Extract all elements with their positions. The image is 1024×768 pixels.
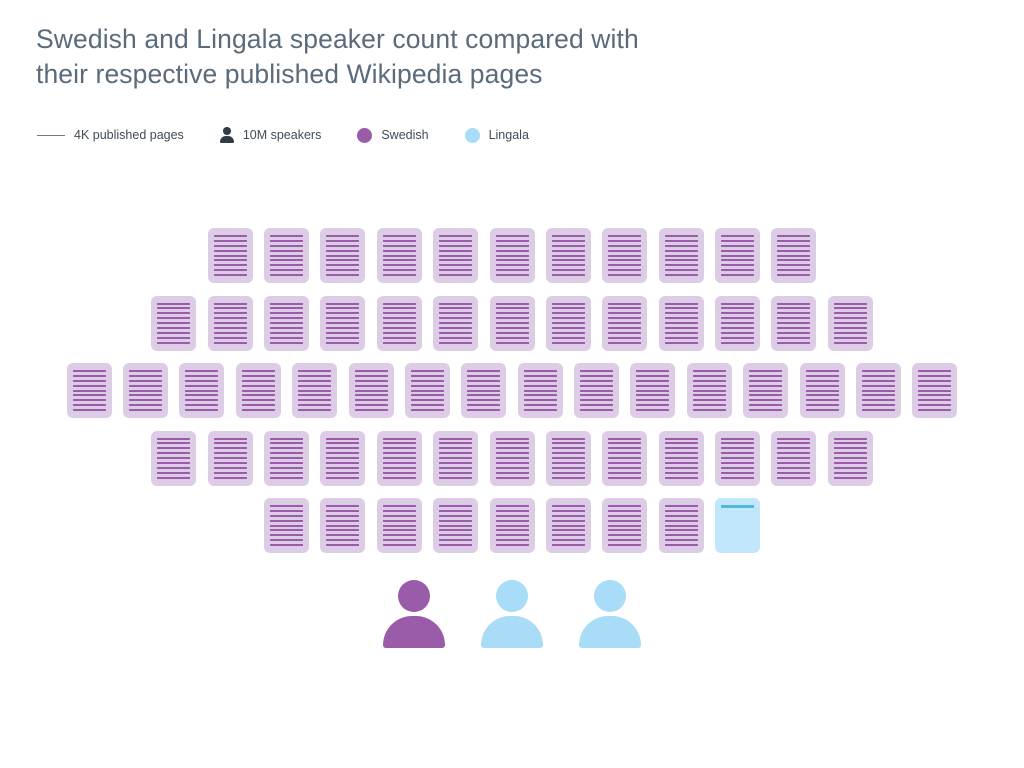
document-text-line: [806, 409, 839, 411]
document-text-line: [665, 259, 698, 261]
document-text-line: [326, 235, 359, 237]
document-text-line: [552, 337, 585, 339]
document-tile-swedish: [151, 431, 196, 486]
document-text-line: [439, 327, 472, 329]
document-text-line: [665, 255, 698, 257]
document-text-line: [298, 385, 331, 387]
document-text-line: [721, 457, 754, 459]
document-text-line: [326, 438, 359, 440]
document-tile-swedish: [602, 228, 647, 283]
document-text-line: [665, 337, 698, 339]
document-text-line: [608, 269, 641, 271]
document-text-line: [777, 337, 810, 339]
document-text-line: [777, 269, 810, 271]
document-text-line: [439, 303, 472, 305]
document-text-line: [636, 409, 669, 411]
document-text-line: [806, 404, 839, 406]
document-text-line: [326, 269, 359, 271]
document-text-line: [439, 307, 472, 309]
document-text-line: [834, 452, 867, 454]
document-tile-swedish: [602, 431, 647, 486]
document-text-line: [496, 438, 529, 440]
document-text-line: [355, 390, 388, 392]
document-text-line: [665, 447, 698, 449]
document-text-line: [580, 404, 613, 406]
document-text-line: [777, 245, 810, 247]
document-text-line: [270, 539, 303, 541]
person-figure-swedish: [383, 580, 445, 648]
document-text-line: [608, 264, 641, 266]
document-text-line: [552, 255, 585, 257]
document-text-line: [693, 404, 726, 406]
document-text-line: [270, 544, 303, 546]
document-text-line: [918, 390, 951, 392]
document-text-line: [721, 322, 754, 324]
document-text-line: [496, 327, 529, 329]
legend-label-lingala: Lingala: [489, 125, 529, 145]
document-tile-swedish: [856, 363, 901, 418]
document-tile-swedish: [377, 296, 422, 351]
document-text-line: [721, 327, 754, 329]
document-text-line: [326, 477, 359, 479]
document-tile-swedish: [461, 363, 506, 418]
document-text-line: [439, 235, 472, 237]
document-text-line: [665, 317, 698, 319]
document-text-line: [721, 312, 754, 314]
document-text-line: [270, 477, 303, 479]
document-text-line: [496, 332, 529, 334]
document-text-line: [326, 539, 359, 541]
document-text-line: [326, 312, 359, 314]
document-tile-swedish: [377, 498, 422, 553]
document-text-line: [383, 259, 416, 261]
document-text-line: [383, 342, 416, 344]
document-tile-swedish: [546, 431, 591, 486]
document-text-line: [749, 375, 782, 377]
document-tile-swedish: [264, 431, 309, 486]
document-tile-swedish: [433, 431, 478, 486]
document-text-line: [862, 404, 895, 406]
document-text-line: [496, 264, 529, 266]
document-text-line: [326, 525, 359, 527]
document-text-line: [298, 409, 331, 411]
document-text-line: [383, 240, 416, 242]
document-tile-swedish: [320, 296, 365, 351]
document-text-line: [439, 447, 472, 449]
document-text-line: [721, 269, 754, 271]
document-text-line: [326, 457, 359, 459]
document-text-line: [298, 404, 331, 406]
document-text-line: [439, 529, 472, 531]
infographic-canvas: Swedish and Lingala speaker count compar…: [0, 0, 1024, 768]
document-text-line: [665, 539, 698, 541]
document-text-line: [157, 322, 190, 324]
document-text-line: [129, 370, 162, 372]
document-text-line: [326, 529, 359, 531]
document-text-line: [665, 438, 698, 440]
document-tile-swedish: [715, 296, 760, 351]
document-text-line: [834, 322, 867, 324]
document-text-line: [439, 505, 472, 507]
document-text-line: [834, 462, 867, 464]
document-text-line: [834, 477, 867, 479]
document-text-line: [157, 317, 190, 319]
document-text-line: [608, 337, 641, 339]
document-text-line: [496, 505, 529, 507]
document-text-line: [608, 510, 641, 512]
document-text-line: [157, 342, 190, 344]
document-text-line: [270, 472, 303, 474]
document-text-line: [608, 520, 641, 522]
document-row: [0, 431, 1024, 486]
legend-label-speakers: 10M speakers: [243, 125, 322, 145]
document-text-line: [777, 274, 810, 276]
document-tile-swedish: [771, 431, 816, 486]
document-text-line: [383, 250, 416, 252]
document-text-line: [214, 447, 247, 449]
document-text-line: [834, 442, 867, 444]
document-text-line: [721, 259, 754, 261]
document-text-line: [439, 264, 472, 266]
document-tile-swedish: [320, 498, 365, 553]
document-tile-swedish: [771, 228, 816, 283]
document-tile-swedish: [687, 363, 732, 418]
document-text-line: [383, 442, 416, 444]
document-text-line: [383, 327, 416, 329]
document-text-line: [496, 255, 529, 257]
document-text-line: [411, 375, 444, 377]
document-text-line: [749, 394, 782, 396]
circle-swatch-icon-swedish: [357, 128, 372, 143]
document-text-line: [665, 250, 698, 252]
document-text-line: [467, 399, 500, 401]
document-text-line: [693, 380, 726, 382]
document-text-line: [383, 322, 416, 324]
document-text-line: [608, 529, 641, 531]
document-text-line: [383, 255, 416, 257]
document-text-line: [439, 539, 472, 541]
document-text-line: [496, 235, 529, 237]
document-text-line: [721, 245, 754, 247]
document-text-line: [439, 269, 472, 271]
document-text-line: [721, 235, 754, 237]
document-text-line: [496, 462, 529, 464]
document-text-line: [355, 394, 388, 396]
document-text-line: [439, 342, 472, 344]
document-text-line: [806, 385, 839, 387]
document-text-line: [721, 342, 754, 344]
document-text-line: [608, 307, 641, 309]
document-text-line: [185, 399, 218, 401]
document-text-line: [439, 472, 472, 474]
document-text-line: [326, 544, 359, 546]
document-text-line: [665, 510, 698, 512]
document-tile-swedish: [574, 363, 619, 418]
document-tile-swedish: [659, 498, 704, 553]
document-text-line: [185, 375, 218, 377]
document-text-line: [862, 394, 895, 396]
document-text-line: [496, 515, 529, 517]
document-text-line: [326, 255, 359, 257]
document-text-line: [326, 534, 359, 536]
document-text-line: [270, 467, 303, 469]
document-text-line: [580, 394, 613, 396]
document-text-line: [496, 529, 529, 531]
document-text-line: [608, 327, 641, 329]
document-text-line: [608, 255, 641, 257]
document-text-line: [411, 394, 444, 396]
document-text-line: [326, 322, 359, 324]
document-text-line: [214, 264, 247, 266]
document-text-line: [608, 534, 641, 536]
document-text-line: [496, 472, 529, 474]
chart-legend: 4K published pages 10M speakers Swedish …: [37, 125, 529, 145]
document-text-line: [439, 250, 472, 252]
document-text-line: [552, 515, 585, 517]
document-text-line: [693, 394, 726, 396]
document-text-line: [721, 274, 754, 276]
document-text-line: [665, 477, 698, 479]
document-tile-swedish: [518, 363, 563, 418]
document-text-line: [721, 467, 754, 469]
document-tile-swedish: [264, 228, 309, 283]
document-text-line: [777, 264, 810, 266]
document-text-line: [326, 520, 359, 522]
document-text-line: [467, 404, 500, 406]
document-text-line: [496, 467, 529, 469]
document-text-line: [242, 394, 275, 396]
document-text-line: [157, 457, 190, 459]
document-text-line: [355, 404, 388, 406]
document-tile-swedish: [490, 228, 535, 283]
document-tile-swedish: [123, 363, 168, 418]
document-text-line: [749, 404, 782, 406]
document-text-line: [326, 442, 359, 444]
document-text-line: [665, 269, 698, 271]
document-text-line: [383, 544, 416, 546]
document-text-line: [383, 520, 416, 522]
document-text-line: [242, 375, 275, 377]
document-text-line: [496, 452, 529, 454]
document-text-line: [834, 447, 867, 449]
document-text-line: [721, 505, 754, 508]
document-text-line: [496, 477, 529, 479]
document-text-line: [552, 317, 585, 319]
document-text-line: [608, 240, 641, 242]
document-tile-swedish: [67, 363, 112, 418]
document-tile-swedish: [320, 228, 365, 283]
document-text-line: [636, 394, 669, 396]
document-text-line: [270, 447, 303, 449]
document-text-line: [496, 447, 529, 449]
document-text-line: [496, 510, 529, 512]
document-text-line: [608, 447, 641, 449]
document-text-line: [214, 274, 247, 276]
document-text-line: [834, 342, 867, 344]
document-tile-swedish: [828, 431, 873, 486]
document-text-line: [777, 307, 810, 309]
document-text-line: [496, 457, 529, 459]
document-text-line: [552, 274, 585, 276]
document-text-line: [721, 240, 754, 242]
document-text-line: [326, 505, 359, 507]
document-text-line: [439, 515, 472, 517]
document-text-line: [524, 399, 557, 401]
document-text-line: [749, 370, 782, 372]
document-text-line: [383, 447, 416, 449]
document-text-line: [214, 337, 247, 339]
document-text-line: [721, 442, 754, 444]
document-text-line: [918, 375, 951, 377]
document-text-line: [326, 467, 359, 469]
document-text-line: [665, 332, 698, 334]
document-text-line: [383, 269, 416, 271]
document-text-line: [157, 452, 190, 454]
document-tile-swedish: [264, 296, 309, 351]
document-text-line: [157, 467, 190, 469]
document-text-line: [270, 457, 303, 459]
document-text-line: [157, 303, 190, 305]
document-text-line: [214, 467, 247, 469]
document-text-line: [270, 520, 303, 522]
document-text-line: [270, 235, 303, 237]
document-tile-swedish: [179, 363, 224, 418]
person-figure-lingala: [579, 580, 641, 648]
document-text-line: [806, 370, 839, 372]
document-tile-swedish: [771, 296, 816, 351]
document-text-line: [467, 380, 500, 382]
document-tile-swedish: [208, 296, 253, 351]
document-text-line: [496, 274, 529, 276]
document-text-line: [326, 327, 359, 329]
document-text-line: [552, 438, 585, 440]
document-text-line: [214, 312, 247, 314]
document-text-line: [552, 264, 585, 266]
document-text-line: [608, 544, 641, 546]
document-tile-swedish: [715, 431, 760, 486]
document-text-line: [721, 477, 754, 479]
document-text-line: [552, 327, 585, 329]
document-text-line: [777, 255, 810, 257]
document-text-line: [157, 312, 190, 314]
document-text-line: [665, 442, 698, 444]
document-text-line: [73, 375, 106, 377]
document-text-line: [608, 303, 641, 305]
document-text-line: [580, 380, 613, 382]
document-text-line: [270, 303, 303, 305]
document-row: [0, 363, 1024, 418]
document-text-line: [73, 370, 106, 372]
document-text-line: [496, 245, 529, 247]
document-tile-swedish: [208, 228, 253, 283]
document-text-line: [496, 539, 529, 541]
document-text-line: [834, 317, 867, 319]
document-text-line: [270, 250, 303, 252]
document-text-line: [834, 457, 867, 459]
document-text-line: [326, 245, 359, 247]
document-text-line: [580, 390, 613, 392]
document-text-line: [608, 452, 641, 454]
document-text-line: [326, 259, 359, 261]
document-text-line: [665, 327, 698, 329]
document-text-line: [777, 447, 810, 449]
document-text-line: [326, 447, 359, 449]
person-figure-body: [481, 616, 543, 648]
document-text-line: [298, 380, 331, 382]
document-text-line: [608, 317, 641, 319]
document-text-line: [721, 307, 754, 309]
document-text-line: [383, 505, 416, 507]
document-text-line: [496, 525, 529, 527]
document-text-line: [383, 264, 416, 266]
document-text-line: [157, 472, 190, 474]
document-text-line: [665, 462, 698, 464]
document-text-line: [665, 520, 698, 522]
document-text-line: [383, 337, 416, 339]
document-text-line: [439, 312, 472, 314]
document-text-line: [608, 235, 641, 237]
circle-swatch-icon-lingala: [465, 128, 480, 143]
document-text-line: [636, 390, 669, 392]
document-text-line: [608, 332, 641, 334]
document-text-line: [608, 274, 641, 276]
document-text-line: [270, 255, 303, 257]
document-tile-swedish: [630, 363, 675, 418]
document-text-line: [834, 337, 867, 339]
document-text-line: [665, 312, 698, 314]
document-text-line: [636, 380, 669, 382]
document-text-line: [721, 317, 754, 319]
document-text-line: [185, 380, 218, 382]
document-text-line: [777, 317, 810, 319]
document-text-line: [496, 303, 529, 305]
document-text-line: [439, 452, 472, 454]
document-text-line: [439, 332, 472, 334]
legend-item-lingala: Lingala: [465, 125, 529, 145]
document-text-line: [439, 274, 472, 276]
document-text-line: [242, 370, 275, 372]
document-text-line: [73, 404, 106, 406]
document-text-line: [834, 327, 867, 329]
document-text-line: [608, 505, 641, 507]
document-text-line: [214, 259, 247, 261]
document-text-line: [721, 303, 754, 305]
document-tile-swedish: [800, 363, 845, 418]
document-text-line: [552, 534, 585, 536]
document-text-line: [298, 370, 331, 372]
document-text-line: [777, 250, 810, 252]
document-text-line: [721, 472, 754, 474]
document-text-line: [326, 274, 359, 276]
document-text-line: [411, 399, 444, 401]
document-tile-swedish: [602, 498, 647, 553]
document-text-line: [411, 390, 444, 392]
document-tile-swedish: [490, 498, 535, 553]
person-figure-head: [496, 580, 528, 612]
document-text-line: [439, 525, 472, 527]
document-text-line: [383, 529, 416, 531]
document-text-line: [383, 312, 416, 314]
legend-label-published-pages: 4K published pages: [74, 125, 184, 145]
document-text-line: [439, 259, 472, 261]
document-text-line: [214, 317, 247, 319]
document-text-line: [636, 370, 669, 372]
person-icon-head: [223, 127, 231, 135]
document-text-line: [383, 539, 416, 541]
person-figure-lingala: [481, 580, 543, 648]
document-text-line: [806, 394, 839, 396]
document-text-line: [242, 390, 275, 392]
